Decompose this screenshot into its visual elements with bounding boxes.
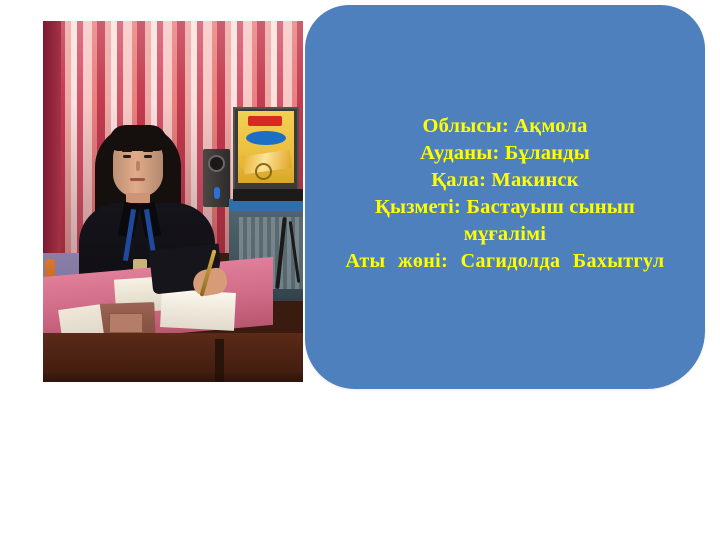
photo-screen-red-banner (248, 116, 282, 126)
photo-bottom-shadow (43, 373, 303, 382)
teacher-photo (43, 21, 303, 382)
info-panel: Облысы: Ақмола Ауданы: Бұланды Қала: Мак… (305, 5, 705, 389)
info-line-name: Аты жөні: Сагидолда Бахытгул (307, 248, 703, 275)
photo-papers (160, 289, 236, 331)
info-line-position: Қызметі: Бастауыш сынып (307, 194, 703, 221)
photo-person-eyebrow (143, 150, 153, 152)
info-line-city: Қала: Макинск (307, 167, 703, 194)
photo-screen-blue-oval (246, 131, 286, 145)
photo-screen-globe-icon (255, 163, 272, 180)
photo-keyboard (233, 189, 303, 201)
photo-person-fringe (109, 125, 167, 151)
photo-speaker-led (214, 187, 220, 199)
info-line-district: Ауданы: Бұланды (307, 140, 703, 167)
info-panel-text-block: Облысы: Ақмола Ауданы: Бұланды Қала: Мак… (305, 113, 705, 275)
photo-person-mouth (130, 178, 145, 181)
photo-person-eye (144, 155, 152, 158)
photo-person-nose (136, 161, 140, 171)
info-line-region: Облысы: Ақмола (307, 113, 703, 140)
photo-left-wall (43, 21, 61, 253)
slide-canvas: Облысы: Ақмола Ауданы: Бұланды Қала: Мак… (0, 0, 720, 540)
info-line-position-cont: мұғалімі (307, 221, 703, 248)
photo-person-eyebrow (122, 150, 132, 152)
photo-book-label (109, 313, 143, 333)
photo-person-eye (123, 155, 131, 158)
photo-speaker-cone (208, 155, 225, 172)
